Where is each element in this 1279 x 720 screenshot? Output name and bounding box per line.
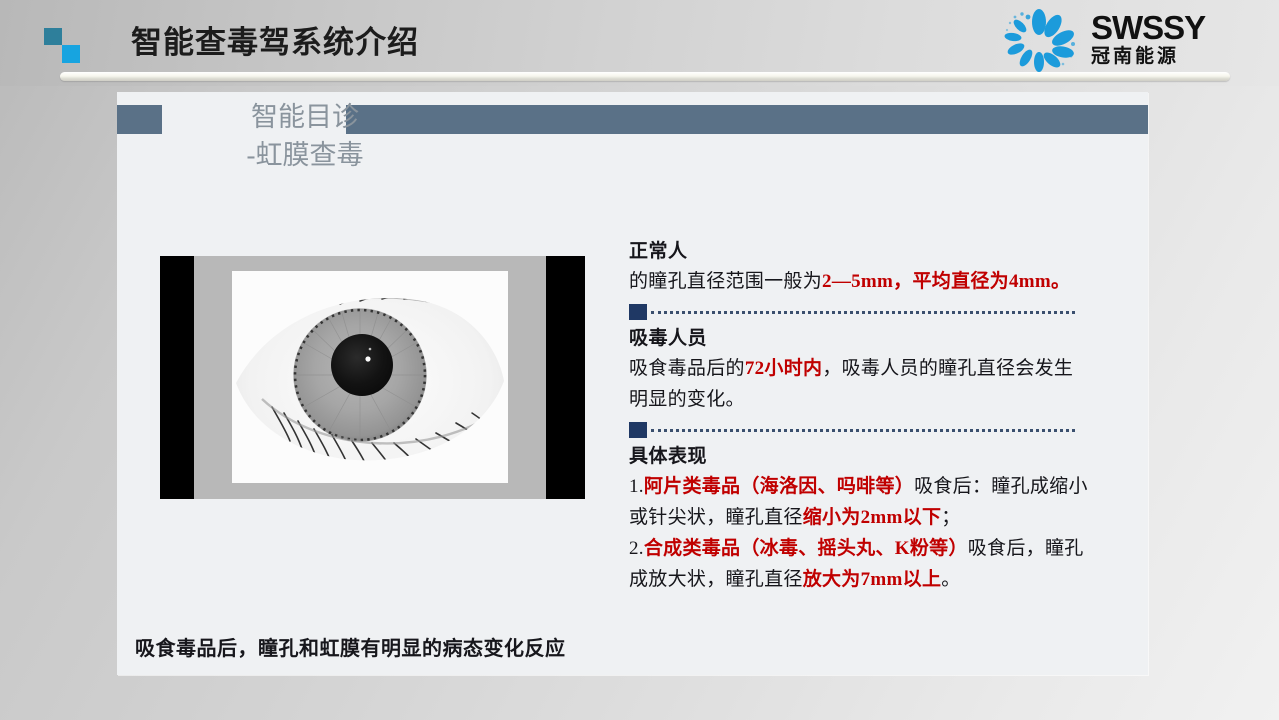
bullet-square-icon — [629, 422, 647, 438]
body-part-highlight: 2—5mm，平均直径为4mm。 — [822, 271, 1070, 292]
brand-text-block: SWSSY 冠南能源 — [1091, 10, 1257, 69]
dotted-divider — [651, 311, 1075, 314]
list-part-highlight: 阿片类毒品（海洛因、吗啡等） — [644, 476, 914, 497]
list-part-highlight: 缩小为2mm以下 — [803, 507, 942, 528]
content-text-column: 正常人 的瞳孔直径范围一般为2—5mm，平均直径为4mm。 吸毒人员 吸食毒品后… — [629, 238, 1089, 595]
dotted-divider — [651, 429, 1075, 432]
eye-photograph — [232, 271, 508, 483]
figure-caption: 吸食毒品后，瞳孔和虹膜有明显的病态变化反应 — [135, 632, 635, 661]
list-item: 1.阿片类毒品（海洛因、吗啡等）吸食后：瞳孔成缩小或针尖状，瞳孔直径缩小为2mm… — [629, 471, 1089, 533]
petal-burst-logo-icon — [995, 8, 1083, 72]
title-band-left-block — [117, 105, 162, 134]
section-heading: 具体表现 — [629, 443, 1089, 471]
header-square-blue-icon — [62, 45, 80, 63]
section-drug-user: 吸毒人员 吸食毒品后的72小时内，吸毒人员的瞳孔直径会发生明显的变化。 — [629, 325, 1089, 415]
list-part-plain: 。 — [941, 569, 960, 590]
slide-title-line1: 智能目诊 — [251, 102, 359, 132]
section-separator — [629, 301, 1089, 323]
section-normal-person: 正常人 的瞳孔直径范围一般为2—5mm，平均直径为4mm。 — [629, 238, 1089, 297]
list-part-highlight: 合成类毒品（冰毒、摇头丸、K粉等） — [644, 538, 968, 559]
list-part-highlight: 放大为7mm以上 — [803, 569, 942, 590]
body-part-highlight: 72小时内 — [745, 358, 823, 379]
brand-subtitle: 冠南能源 — [1091, 45, 1257, 69]
header-square-dark-icon — [44, 28, 62, 45]
section-specific-manifestation: 具体表现 1.阿片类毒品（海洛因、吗啡等）吸食后：瞳孔成缩小或针尖状，瞳孔直径缩… — [629, 443, 1089, 595]
slide-content-panel: 智能目诊 -虹膜查毒 — [117, 92, 1148, 675]
section-body: 的瞳孔直径范围一般为2—5mm，平均直径为4mm。 — [629, 266, 1089, 297]
slide-title-line2: -虹膜查毒 — [195, 136, 415, 174]
body-part-plain: 吸食毒品后的 — [629, 358, 745, 379]
section-body: 吸食毒品后的72小时内，吸毒人员的瞳孔直径会发生明显的变化。 — [629, 353, 1089, 415]
list-item: 2.合成类毒品（冰毒、摇头丸、K粉等）吸食后，瞳孔成放大状，瞳孔直径放大为7mm… — [629, 533, 1089, 595]
section-separator — [629, 419, 1089, 441]
bullet-square-icon — [629, 304, 647, 320]
slide-title: 智能目诊 -虹膜查毒 — [195, 98, 415, 174]
brand-logo: SWSSY 冠南能源 — [995, 6, 1257, 74]
body-part-plain: 的瞳孔直径范围一般为 — [629, 271, 822, 292]
list-item-number: 2. — [629, 538, 644, 559]
brand-name: SWSSY — [1091, 10, 1257, 45]
slide-header: 智能查毒驾系统介绍 — [0, 0, 1279, 86]
presentation-slide: 智能查毒驾系统介绍 — [0, 0, 1279, 720]
section-heading: 吸毒人员 — [629, 325, 1089, 353]
eye-figure — [160, 256, 585, 499]
title-band-right-block — [346, 105, 1148, 134]
list-part-plain: ； — [941, 507, 960, 528]
header-title: 智能查毒驾系统介绍 — [131, 17, 419, 62]
list-item-number: 1. — [629, 476, 644, 497]
section-heading: 正常人 — [629, 238, 1089, 266]
